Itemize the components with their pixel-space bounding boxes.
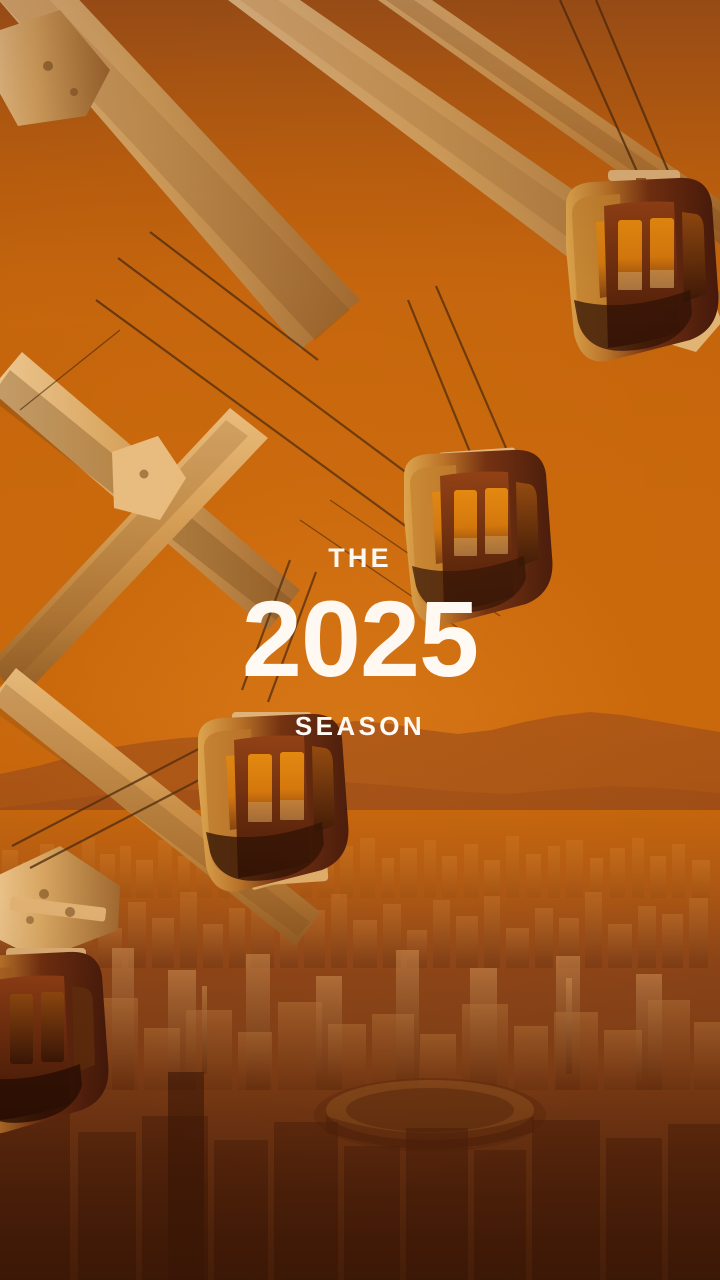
gondola-middle: [404, 447, 552, 625]
gondola-bottom-left: [0, 948, 108, 1134]
gondola-top-right: [566, 170, 718, 362]
gondola-lower-center: [198, 712, 348, 892]
poster-canvas: THE 2025 SEASON: [0, 0, 720, 1280]
gondola-cabins: [0, 0, 720, 1280]
